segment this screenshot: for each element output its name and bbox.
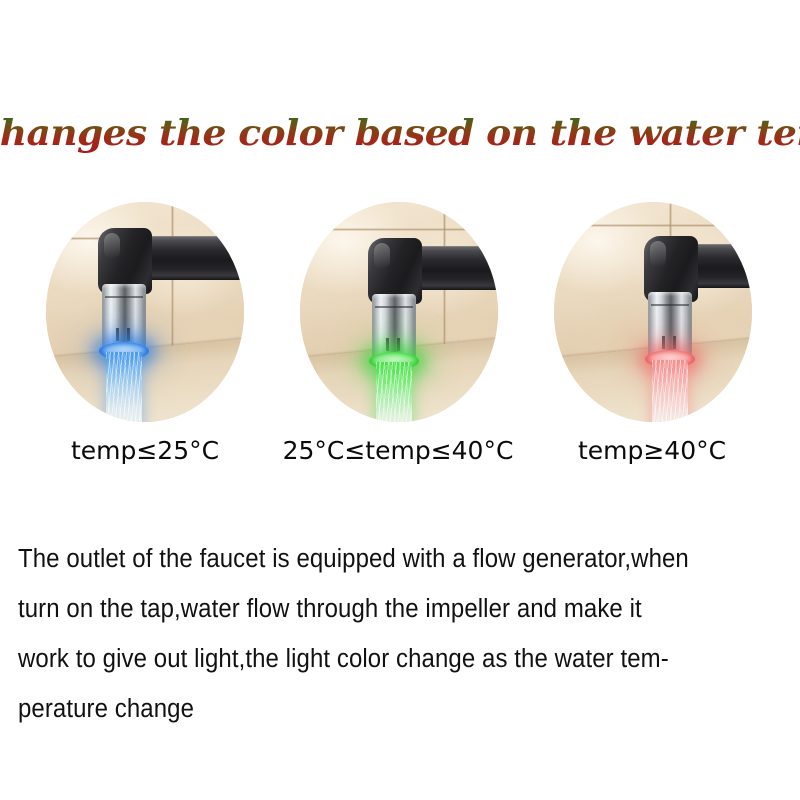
circular-photo-frame-cold [46,202,244,422]
tile-grout-line-horizontal [300,228,498,231]
water-stream-blue [106,352,142,422]
aerator-notch [397,338,400,351]
water-stream-texture [106,352,142,422]
caption-temp-hot: temp≥40°C [517,434,787,468]
aerator-notch [127,328,130,341]
water-stream-green [376,362,412,422]
product-photo-cold [18,196,278,428]
aerator-notch [662,336,665,349]
aerator-notch [116,328,119,341]
aerator-band [105,296,143,298]
water-stream-texture [652,360,688,422]
description-paragraph: The outlet of the faucet is equipped wit… [18,534,786,734]
aerator-notch [673,336,676,349]
headline-banner: Changes the color based on the water tem… [0,108,800,170]
product-photo-warm [272,196,532,428]
water-stream-texture [376,362,412,422]
description-line: perature change [18,684,740,734]
product-photo-row [0,196,800,428]
chrome-led-aerator [102,284,146,350]
circular-photo-frame-hot [554,202,752,422]
aerator-band [651,304,689,306]
chrome-led-aerator [648,292,692,358]
caption-temp-warm: 25°C≤temp≤40°C [263,434,533,468]
headline-text: Changes the color based on the water tem… [0,108,800,160]
water-stream-red [652,360,688,422]
circular-photo-frame-warm [300,202,498,422]
description-line: turn on the tap,water flow through the i… [18,584,740,634]
tile-grout-line-horizontal [554,224,752,227]
chrome-led-aerator [372,294,416,360]
temperature-caption-row: temp≤25°C 25°C≤temp≤40°C temp≥40°C [0,434,800,474]
product-photo-hot [522,196,782,428]
aerator-band [375,306,413,308]
caption-temp-cold: temp≤25°C [10,434,280,468]
description-line: work to give out light,the light color c… [18,634,740,684]
description-line: The outlet of the faucet is equipped wit… [18,534,740,584]
aerator-notch [386,338,389,351]
